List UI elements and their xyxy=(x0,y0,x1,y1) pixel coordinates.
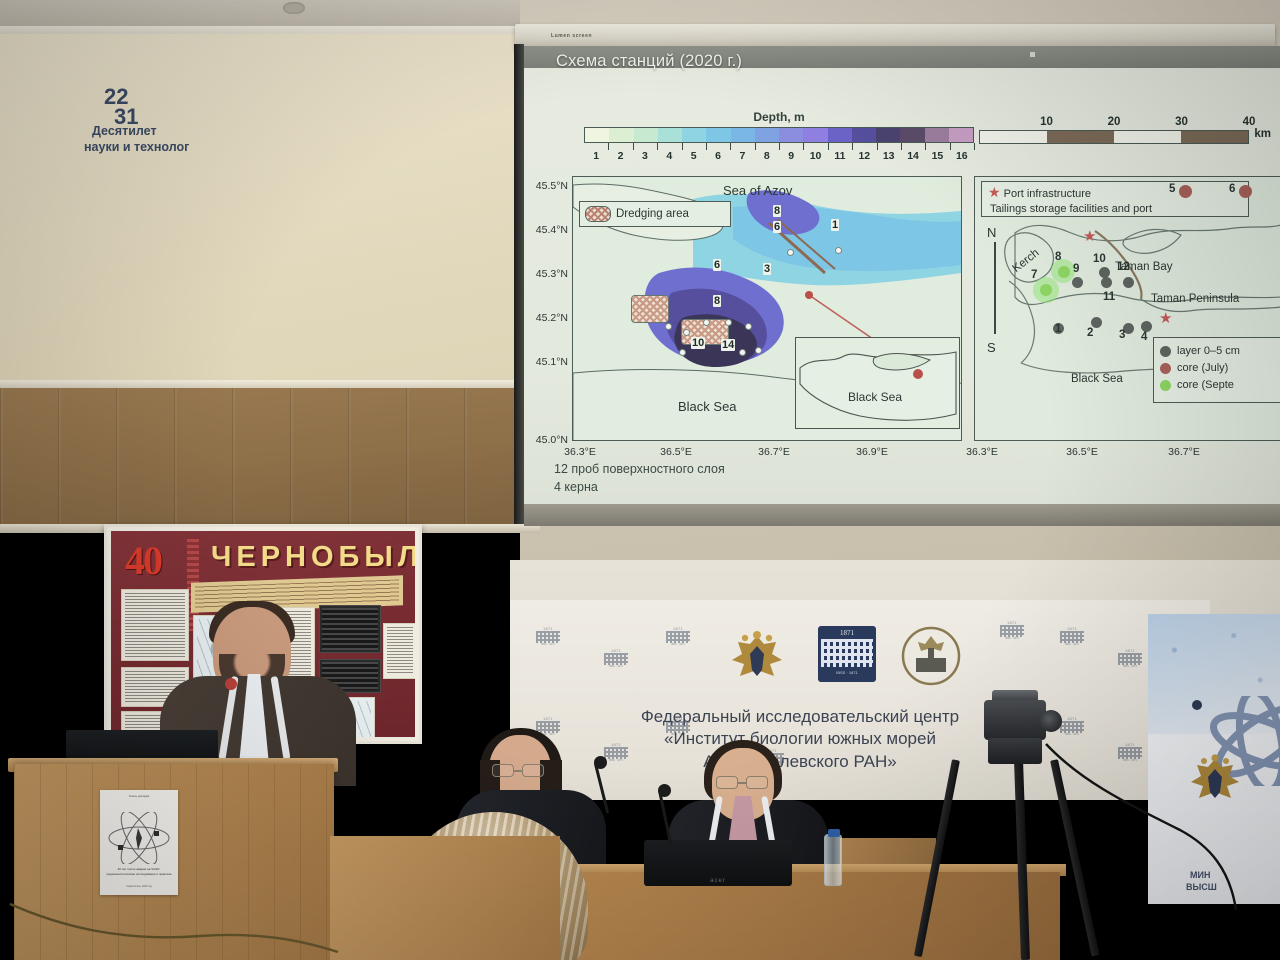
lon-tick: 36.3°E xyxy=(564,446,596,458)
screen-brand-label: Lumen screen xyxy=(551,33,592,39)
inset-coastline xyxy=(796,338,961,430)
lon-tick-b: 36.5°E xyxy=(1066,446,1098,458)
atom-nucleus-icon xyxy=(1192,700,1202,710)
slide-title: Схема станций (2020 г.) xyxy=(556,52,742,71)
station-number-3: 3 xyxy=(1119,329,1125,341)
presidium-table-front xyxy=(560,872,1060,960)
depth-contour-label: 8 xyxy=(713,295,721,307)
map-panel-a: a Sea of Azov xyxy=(572,176,962,441)
scale-bar-label: 30 xyxy=(1175,116,1188,128)
microphone-head-icon xyxy=(594,756,607,769)
lon-tick: 36.5°E xyxy=(660,446,692,458)
russian-academy-seal-icon xyxy=(898,626,964,686)
colorbar-tick-labels: 12345678910111213141516 xyxy=(584,150,974,163)
scale-bar-unit: km xyxy=(1254,128,1271,140)
station-point-11 xyxy=(1101,277,1112,288)
colorbar-tick xyxy=(901,143,902,150)
lat-tick: 45.2°N xyxy=(524,312,568,324)
station-number-4: 4 xyxy=(1141,331,1147,343)
poster-anniversary-number: 40 xyxy=(125,537,161,584)
colorbar-tick xyxy=(608,143,609,150)
podium-flyer: Тезисы докладов 40 лет после аварии на Ч… xyxy=(100,790,178,895)
panel-b-point-legend: layer 0–5 cm core (July) core (Septe xyxy=(1153,337,1280,403)
station-number-7: 7 xyxy=(1031,269,1037,281)
lat-tick: 45.1°N xyxy=(524,356,568,368)
colorbar-tick-label: 16 xyxy=(956,150,968,162)
lat-tick: 45.0°N xyxy=(524,434,568,446)
sample-point xyxy=(725,319,732,326)
colorbar-tick-label: 5 xyxy=(691,150,697,162)
poster-photo xyxy=(319,605,381,653)
legend-row-core-july: core (July) xyxy=(1160,360,1278,377)
dredging-area-icon xyxy=(585,206,611,222)
station-number-6: 6 xyxy=(1229,183,1235,195)
lon-tick-b: 36.3°E xyxy=(966,446,998,458)
backdrop-logo-caption: IBSS · 1871 xyxy=(536,643,560,646)
station-number-11: 11 xyxy=(1103,291,1115,303)
camera-lens-icon xyxy=(1040,710,1062,732)
colorbar-tick-label: 7 xyxy=(740,150,746,162)
star-icon: ★ xyxy=(1159,309,1172,327)
scale-bar-segments xyxy=(979,130,1249,144)
sample-point xyxy=(665,323,672,330)
video-camera-body xyxy=(984,700,1046,740)
slide-notes: 12 проб поверхностного слоя 4 керна xyxy=(554,460,725,496)
clip-microphone-icon xyxy=(225,678,237,690)
backdrop-logo-building-icon xyxy=(1000,625,1024,637)
station-point-12 xyxy=(1123,277,1134,288)
colorbar-ticks xyxy=(584,143,974,150)
backdrop-logo-caption: IBSS · 1871 xyxy=(604,665,628,668)
legend-label-core-sept: core (Septe xyxy=(1177,377,1234,394)
station-number-8: 8 xyxy=(1055,251,1061,263)
legend-label-layer: layer 0–5 cm xyxy=(1177,343,1240,360)
sample-point xyxy=(703,319,710,326)
colorbar-tick xyxy=(682,143,683,150)
colorbar-tick xyxy=(633,143,634,150)
flyer-title: Тезисы докладов xyxy=(105,795,173,799)
lat-tick: 45.3°N xyxy=(524,268,568,280)
sample-point xyxy=(835,247,842,254)
projection-screen: Схема станций (2020 г.) Depth, m 1234567… xyxy=(524,46,1280,504)
colorbar-tick xyxy=(925,143,926,150)
lat-tick: 45.4°N xyxy=(524,224,568,236)
dredging-legend: Dredging area xyxy=(579,201,731,227)
legend-dot-icon xyxy=(1160,363,1171,374)
backdrop-logo-caption: IBSS · 1871 xyxy=(666,643,690,646)
backdrop-logo-caption: IBSS · 1871 xyxy=(1118,665,1142,668)
institute-emblem: 1871 IBSS · 1871 xyxy=(818,626,876,682)
label-sea-of-azov: Sea of Azov xyxy=(723,183,792,198)
legend-row-core-sept: core (Septe xyxy=(1160,377,1278,394)
colorbar-tick xyxy=(657,143,658,150)
poster-clipping xyxy=(121,589,189,661)
sample-point xyxy=(755,347,762,354)
label-black-sea-a: Black Sea xyxy=(678,399,737,414)
backdrop-logo-caption: IBSS · 1871 xyxy=(1000,637,1024,640)
colorbar-tick-label: 12 xyxy=(858,150,870,162)
scale-bar-labels: 10203040 xyxy=(979,116,1249,130)
station-number-9: 9 xyxy=(1073,263,1079,275)
colorbar-tick-label: 10 xyxy=(810,150,822,162)
sample-point xyxy=(787,249,794,256)
colorbar-tick xyxy=(730,143,731,150)
lon-tick-b: 36.7°E xyxy=(1168,446,1200,458)
bottle-cap xyxy=(828,829,840,837)
lon-tick: 36.7°E xyxy=(758,446,790,458)
backdrop-logo-building-icon xyxy=(604,653,628,665)
colorbar-tick-label: 9 xyxy=(788,150,794,162)
backdrop-logo-building-icon xyxy=(666,631,690,643)
colorbar-tick-label: 14 xyxy=(907,150,919,162)
slide-note-line-2: 4 керна xyxy=(554,478,725,496)
screen-left-edge xyxy=(514,44,524,524)
emblem-building-icon xyxy=(821,639,873,667)
lat-tick: 45.5°N xyxy=(524,180,568,192)
floor-cable xyxy=(0,896,340,960)
station-number-12: 12 xyxy=(1117,261,1130,273)
station-point-6 xyxy=(1239,185,1252,198)
station-point-7 xyxy=(1040,284,1052,296)
backdrop-logo-icon: 1871IBSS · 1871 xyxy=(1118,648,1142,670)
flyer-footer: Севастополь, 2026 год xyxy=(105,885,173,888)
emblem-year: 1871 xyxy=(821,629,873,637)
left-wall-upper xyxy=(0,34,540,387)
tripod-head xyxy=(988,738,1042,764)
lon-tick: 36.9°E xyxy=(856,446,888,458)
camera-cable xyxy=(1040,740,1240,920)
sample-point xyxy=(739,349,746,356)
backdrop-logo-building-icon xyxy=(1060,631,1084,643)
colorbar-tick xyxy=(852,143,853,150)
backdrop-logo-building-icon xyxy=(536,631,560,643)
port-legend-row: ★ Port infrastructure xyxy=(988,185,1242,202)
backdrop-logo-icon: 1871IBSS · 1871 xyxy=(666,626,690,648)
star-icon: ★ xyxy=(988,184,1001,200)
inset-overview-map: Black Sea xyxy=(795,337,960,429)
slide-note-line-1: 12 проб поверхностного слоя xyxy=(554,460,725,478)
station-number-1: 1 xyxy=(1055,323,1061,335)
port-legend-label: Port infrastructure xyxy=(1004,188,1091,200)
depth-colorbar: Depth, m 12345678910111213141516 xyxy=(584,110,974,163)
colorbar-tick-label: 6 xyxy=(715,150,721,162)
backdrop-logo-icon: 1871IBSS · 1871 xyxy=(1000,620,1024,642)
scale-bar-label: 20 xyxy=(1108,116,1121,128)
colorbar-tick-label: 15 xyxy=(932,150,944,162)
scale-bar: 10203040 km xyxy=(979,116,1249,144)
panel-b-top-legend: ★ Port infrastructure Tailings storage f… xyxy=(981,181,1249,217)
depth-contour-label: 10 xyxy=(691,337,705,349)
compass-arrow-icon xyxy=(994,242,996,334)
microphone-head-icon xyxy=(658,784,671,797)
place-label-taman-peninsula: Taman Peninsula xyxy=(1151,293,1239,305)
station-point-8 xyxy=(1058,266,1070,278)
colorbar-tick-label: 3 xyxy=(642,150,648,162)
colorbar-tick-label: 2 xyxy=(618,150,624,162)
compass-rose: N S xyxy=(983,225,1007,355)
station-number-5: 5 xyxy=(1169,183,1175,195)
rollup-text-line-2: науки и технолог xyxy=(84,140,189,154)
sample-point xyxy=(745,323,752,330)
depth-contour-label: 3 xyxy=(763,263,771,275)
colorbar-tick-label: 4 xyxy=(666,150,672,162)
colorbar-tick xyxy=(779,143,780,150)
colorbar-tick xyxy=(974,143,975,150)
colorbar-tick-label: 8 xyxy=(764,150,770,162)
compass-north-label: N xyxy=(987,225,996,240)
presidium-monitor: acer xyxy=(644,840,792,886)
colorbar-tick-label: 11 xyxy=(834,150,845,162)
legend-label-core-july: core (July) xyxy=(1177,360,1228,377)
backdrop-logo-building-icon xyxy=(1118,653,1142,665)
sample-point xyxy=(683,329,690,336)
map-panel-b: ★ Port infrastructure Tailings storage f… xyxy=(974,176,1280,441)
compass-south-label: S xyxy=(987,340,996,355)
star-icon: ★ xyxy=(1083,227,1096,245)
depth-contour-label: 8 xyxy=(773,205,781,217)
flyer-line-3: радиоэкологические исследования и практи… xyxy=(105,872,173,877)
emblem-caption: IBSS · 1871 xyxy=(821,670,873,675)
colorbar-tick xyxy=(803,143,804,150)
flyer-subtitle: 40 лет после аварии на ЧАЭС: радиоэколог… xyxy=(105,867,173,877)
station-point-9 xyxy=(1072,277,1083,288)
legend-dot-icon xyxy=(1160,380,1171,391)
dredging-legend-label: Dredging area xyxy=(616,208,689,220)
depth-contour-label: 6 xyxy=(713,259,721,271)
depth-contour-label: 6 xyxy=(773,221,781,233)
projection-screen-bottom-bar xyxy=(524,504,1280,526)
colorbar-tick xyxy=(950,143,951,150)
poster-title: ЧЕРНОБЫЛЬ xyxy=(211,541,415,574)
side-table xyxy=(330,836,560,960)
monitor-brand-label: acer xyxy=(710,878,726,884)
colorbar-tick xyxy=(877,143,878,150)
place-label-black-sea-b: Black Sea xyxy=(1071,373,1123,385)
colorbar-gradient xyxy=(584,127,974,143)
atom-orbit-icon xyxy=(100,812,178,864)
poster-clipping xyxy=(383,623,415,679)
scale-bar-label: 10 xyxy=(1040,116,1053,128)
sample-point xyxy=(679,349,686,356)
backdrop-logo-icon: 1871IBSS · 1871 xyxy=(1060,626,1084,648)
wood-wall-panelling xyxy=(0,388,540,528)
conference-photo: Lumen screen Схема станций (2020 г.) Dep… xyxy=(0,0,1280,960)
legend-dot-icon xyxy=(1160,346,1171,357)
backdrop-logo-icon: 1871IBSS · 1871 xyxy=(604,648,628,670)
colorbar-title: Depth, m xyxy=(584,110,974,124)
colorbar-tick xyxy=(706,143,707,150)
inset-label: Black Sea xyxy=(848,390,902,404)
depth-contour-label: 1 xyxy=(831,219,839,231)
backdrop-logo-caption: IBSS · 1871 xyxy=(1060,643,1084,646)
water-bottle xyxy=(824,834,842,886)
scale-bar-label: 40 xyxy=(1243,116,1256,128)
colorbar-tick xyxy=(755,143,756,150)
station-point-5 xyxy=(1179,185,1192,198)
smoke-detector-icon xyxy=(283,2,305,14)
depth-contour-label: 14 xyxy=(721,339,735,351)
colorbar-tick xyxy=(828,143,829,150)
slide-content: Схема станций (2020 г.) Depth, m 1234567… xyxy=(524,68,1280,504)
colorbar-tick-label: 13 xyxy=(883,150,895,162)
station-number-10: 10 xyxy=(1093,253,1106,265)
dredging-area-patch xyxy=(631,295,669,323)
tailings-legend-label: Tailings storage facilities and port xyxy=(988,202,1242,217)
backdrop-logo-icon: 1871IBSS · 1871 xyxy=(536,626,560,648)
station-number-2: 2 xyxy=(1087,327,1093,339)
legend-row-layer: layer 0–5 cm xyxy=(1160,343,1278,360)
russian-coat-of-arms-icon xyxy=(726,630,788,684)
colorbar-tick-label: 1 xyxy=(593,150,599,162)
rollup-text-line-1: Десятилет xyxy=(92,124,157,138)
presentation-toolbar-chip xyxy=(1030,52,1038,60)
